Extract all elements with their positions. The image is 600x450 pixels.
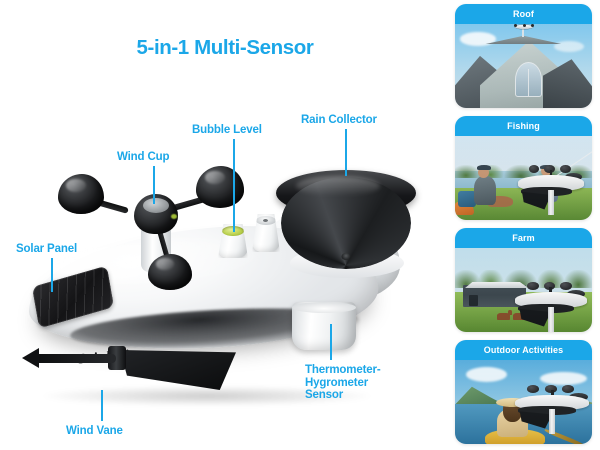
product-diagram-panel: 5-in-1 Multi-Sensor Sainlogic	[0, 0, 450, 450]
leader-line-solar-panel	[51, 258, 53, 292]
card-photo-farm	[455, 248, 592, 332]
wind-cup-front	[148, 254, 192, 290]
infographic-stage: 5-in-1 Multi-Sensor Sainlogic	[0, 0, 600, 450]
use-case-card-fishing[interactable]: Fishing	[455, 116, 592, 220]
card-title-fishing: Fishing	[507, 121, 540, 131]
horse	[497, 313, 509, 321]
page-title: 5-in-1 Multi-Sensor	[0, 36, 450, 60]
mounted-weather-sensor	[515, 277, 586, 329]
use-case-card-roof[interactable]: Roof	[455, 4, 592, 108]
cooler-bag	[458, 191, 476, 206]
hub-glint	[171, 214, 177, 219]
callout-label-thermometer-hygrometer: Thermometer- Hygrometer Sensor	[305, 364, 381, 402]
card-header-farm: Farm	[455, 228, 592, 248]
use-case-card-rail: Roof	[455, 0, 600, 450]
card-header-roof: Roof	[455, 4, 592, 24]
cup	[514, 24, 517, 27]
wind-cup-right	[196, 166, 244, 208]
leader-line-bubble-level	[233, 139, 235, 232]
card-title-outdoor-activities: Outdoor Activities	[484, 345, 563, 355]
card-title-farm: Farm	[512, 233, 534, 243]
card-header-fishing: Fishing	[455, 116, 592, 136]
wind-vane-tail	[30, 354, 116, 363]
angler-one	[474, 176, 496, 205]
arched-window	[515, 62, 542, 98]
barn-door	[469, 295, 479, 306]
callout-label-wind-vane: Wind Vane	[66, 425, 123, 438]
callout-label-solar-panel: Solar Panel	[16, 243, 77, 256]
cup	[529, 165, 540, 173]
sensor-mounting-pole	[548, 307, 554, 332]
leader-line-wind-cup	[153, 166, 155, 204]
sensor-mounting-pole	[548, 190, 553, 215]
cup	[527, 385, 539, 393]
wind-vane-arrow	[22, 348, 39, 368]
cup	[523, 24, 526, 27]
use-case-card-farm[interactable]: Farm	[455, 228, 592, 332]
cup	[560, 282, 572, 290]
mounted-sensor-cups	[514, 24, 535, 26]
rain-collector-part	[276, 170, 416, 282]
callout-label-wind-cup: Wind Cup	[117, 151, 169, 164]
leader-line-thermometer-hygrometer	[330, 324, 332, 360]
angler-one-cap	[477, 165, 491, 170]
card-photo-fishing	[455, 136, 592, 220]
mounted-weather-sensor	[515, 380, 589, 430]
callout-label-bubble-level: Bubble Level	[192, 124, 262, 137]
cloud	[466, 367, 507, 382]
cup	[560, 165, 571, 173]
wind-cup-left	[58, 174, 104, 214]
mounted-weather-sensor	[518, 160, 584, 212]
cup	[562, 385, 574, 393]
use-case-card-outdoor-activities[interactable]: Outdoor Activities	[455, 340, 592, 444]
callout-label-rain-collector: Rain Collector	[301, 114, 377, 127]
cup	[527, 282, 539, 290]
rain-collector-highlight	[296, 176, 380, 196]
vent-cone-eye	[256, 216, 276, 225]
leader-line-wind-vane	[101, 390, 103, 421]
sensor-mounting-pole	[549, 409, 555, 433]
thermometer-hygrometer-part	[292, 302, 356, 350]
wind-cup-hub	[134, 194, 178, 234]
card-header-outdoor-activities: Outdoor Activities	[455, 340, 592, 360]
wind-vane-fin	[120, 350, 236, 390]
card-title-roof: Roof	[513, 9, 534, 19]
weather-sensor-illustration: Sainlogic	[0, 150, 450, 450]
card-photo-roof	[455, 24, 592, 108]
leader-line-rain-collector	[345, 129, 347, 176]
cloud	[554, 41, 584, 52]
card-photo-outdoor-activities	[455, 360, 592, 444]
